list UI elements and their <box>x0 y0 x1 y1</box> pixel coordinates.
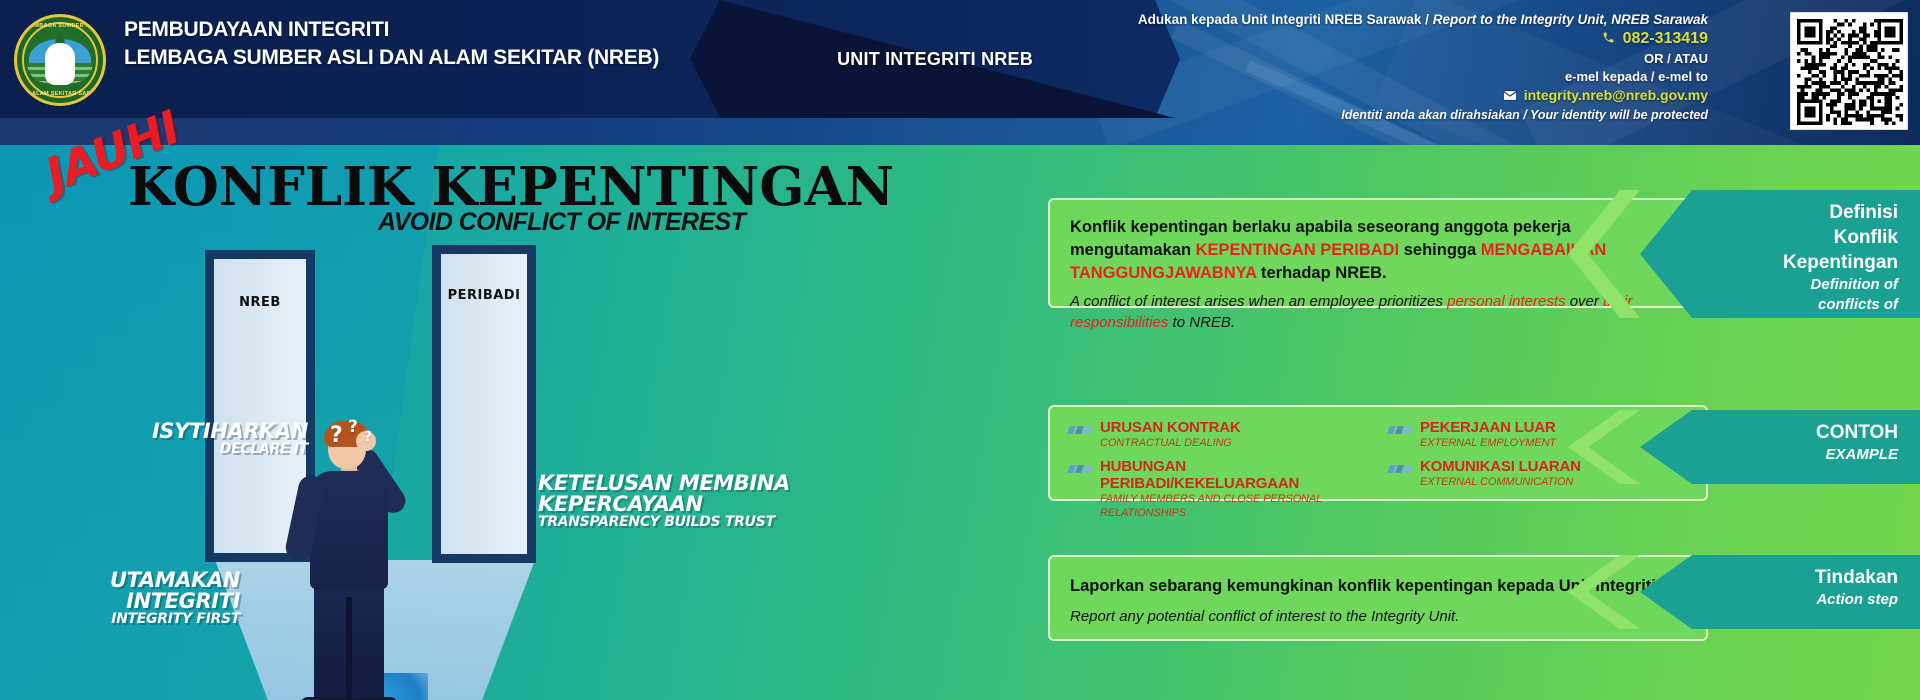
callout-integrity-en: INTEGRITY FIRST <box>20 612 240 626</box>
report-separator: / <box>1425 12 1429 27</box>
definition-ms-part3: terhadap NREB. <box>1256 264 1386 282</box>
example-label-ms: HUBUNGAN PERIBADI/KEKELUARGAAN <box>1100 458 1376 492</box>
organisation-titles: PEMBUDAYAAN INTEGRITI LEMBAGA SUMBER ASL… <box>124 16 659 72</box>
tab-definition-line2: Konflik <box>1694 225 1898 250</box>
callout-declare: ISYTIHARKAN DECLARE IT <box>88 421 308 456</box>
tab-example-label: CONTOH <box>1694 420 1898 445</box>
example-label-en: CONTRACTUAL DEALING <box>1100 436 1241 450</box>
page-header: LEMBAGA SUMBER ASLI DAN ALAM SEKITAR SAR… <box>0 0 1920 145</box>
illustration: NREB PERIBADI ? ? ? ISYTIHARKAN DECLARE … <box>0 145 850 700</box>
triple-arrow-icon <box>1066 423 1092 441</box>
definition-text-en: A conflict of interest arises when an em… <box>1070 291 1688 333</box>
report-line: Adukan kepada Unit Integriti NREB Sarawa… <box>1018 10 1708 29</box>
definition-en-highlight1: personal interests <box>1447 293 1565 310</box>
logo-text-bottom: DAN ALAM SEKITAR SARAWAK <box>17 91 106 97</box>
or-label: OR / ATAU <box>1018 50 1708 68</box>
triple-arrow-icon <box>1066 462 1092 480</box>
example-label-ms: PEKERJAAN LUAR <box>1420 419 1556 436</box>
question-mark-icon: ? <box>348 417 358 437</box>
door-leaf: PERIBADI <box>432 245 536 563</box>
person-leg-split <box>346 597 352 700</box>
phone-number: 082-313419 <box>1623 30 1708 47</box>
identity-protected-note: Identiti anda akan dirahsiakan / Your id… <box>1018 106 1708 124</box>
org-title-line2: LEMBAGA SUMBER ASLI DAN ALAM SEKITAR (NR… <box>124 44 659 72</box>
example-label-en: EXTERNAL EMPLOYMENT <box>1420 436 1556 450</box>
logo-text-top: LEMBAGA SUMBER ASLI <box>17 23 106 29</box>
contact-block: Adukan kepada Unit Integriti NREB Sarawa… <box>1018 10 1708 124</box>
examples-column-right: PEKERJAAN LUAR EXTERNAL EMPLOYMENT KOMUN… <box>1386 419 1696 528</box>
email-address: integrity.nreb@nreb.gov.my <box>1524 87 1708 103</box>
example-label-ms: KOMUNIKASI LUARAN <box>1420 458 1581 475</box>
door-peribadi-label: PERIBADI <box>441 288 527 303</box>
callout-integrity-ms: UTAMAKAN INTEGRITI <box>20 570 240 612</box>
question-mark-icon: ? <box>330 423 343 448</box>
definition-ms-part2: sehingga <box>1399 241 1481 259</box>
phone-icon <box>1602 30 1615 50</box>
tab-action-en: Action step <box>1694 590 1898 610</box>
report-label-en: Report to the Integrity Unit, NREB Saraw… <box>1433 12 1708 27</box>
tab-example-en: EXAMPLE <box>1694 445 1898 465</box>
triple-arrow-icon <box>1386 423 1412 441</box>
envelope-icon <box>1503 87 1517 106</box>
definition-ms-highlight1: KEPENTINGAN PERIBADI <box>1196 241 1400 259</box>
tab-action[interactable]: Tindakan Action step <box>1640 555 1920 629</box>
tab-definition-en1: Definition of <box>1694 275 1898 295</box>
callout-transparency-en: TRANSPARENCY BUILDS TRUST <box>538 515 818 529</box>
question-mark-icon: ? <box>364 429 372 445</box>
example-label-en: FAMILY MEMBERS AND CLOSE PERSONAL RELATI… <box>1100 492 1376 520</box>
qr-code-image <box>1797 19 1903 125</box>
example-label-en: EXTERNAL COMMUNICATION <box>1420 475 1581 489</box>
example-label-ms: URUSAN KONTRAK <box>1100 419 1241 436</box>
callout-transparency-ms-2: KEPERCAYAAN <box>538 494 818 515</box>
definition-en-part2: over <box>1566 293 1604 310</box>
callout-integrity-first: UTAMAKAN INTEGRITI INTEGRITY FIRST <box>20 570 240 626</box>
example-item: URUSAN KONTRAK CONTRACTUAL DEALING <box>1066 419 1376 450</box>
tab-definition-line3: Kepentingan <box>1694 250 1898 275</box>
tab-definition[interactable]: Definisi Konflik Kepentingan Definition … <box>1640 190 1920 318</box>
definition-en-part1: A conflict of interest arises when an em… <box>1070 293 1447 310</box>
tab-example[interactable]: CONTOH EXAMPLE <box>1640 410 1920 484</box>
door-peribadi: PERIBADI <box>432 245 536 563</box>
tab-action-label: Tindakan <box>1694 565 1898 590</box>
nreb-logo: LEMBAGA SUMBER ASLI DAN ALAM SEKITAR SAR… <box>14 14 106 106</box>
triple-arrow-icon <box>1386 462 1412 480</box>
org-title-line1: PEMBUDAYAAN INTEGRITI <box>124 16 659 44</box>
door-nreb-label: NREB <box>214 295 306 310</box>
examples-column-left: URUSAN KONTRAK CONTRACTUAL DEALING HUBUN… <box>1066 419 1376 528</box>
example-item: KOMUNIKASI LUARAN EXTERNAL COMMUNICATION <box>1386 458 1696 489</box>
example-item: HUBUNGAN PERIBADI/KEKELUARGAAN FAMILY ME… <box>1066 458 1376 520</box>
tab-definition-line1: Definisi <box>1694 200 1898 225</box>
callout-transparency: KETELUSAN MEMBINA KEPERCAYAAN TRANSPAREN… <box>538 473 818 529</box>
report-label-ms: Adukan kepada Unit Integriti NREB Sarawa… <box>1138 12 1422 27</box>
phone-line[interactable]: 082-313419 <box>1018 29 1708 50</box>
email-line[interactable]: integrity.nreb@nreb.gov.my <box>1018 86 1708 106</box>
callout-transparency-ms-1: KETELUSAN MEMBINA <box>538 473 818 494</box>
tab-definition-en2: conflicts of <box>1694 295 1898 315</box>
callout-declare-ms: ISYTIHARKAN <box>88 421 308 442</box>
definition-en-part3: to NREB. <box>1168 314 1235 331</box>
logo-ring <box>22 22 98 98</box>
email-label: e-mel kepada / e-mel to <box>1018 68 1708 86</box>
qr-code[interactable] <box>1790 12 1908 130</box>
callout-declare-en: DECLARE IT <box>88 442 308 456</box>
